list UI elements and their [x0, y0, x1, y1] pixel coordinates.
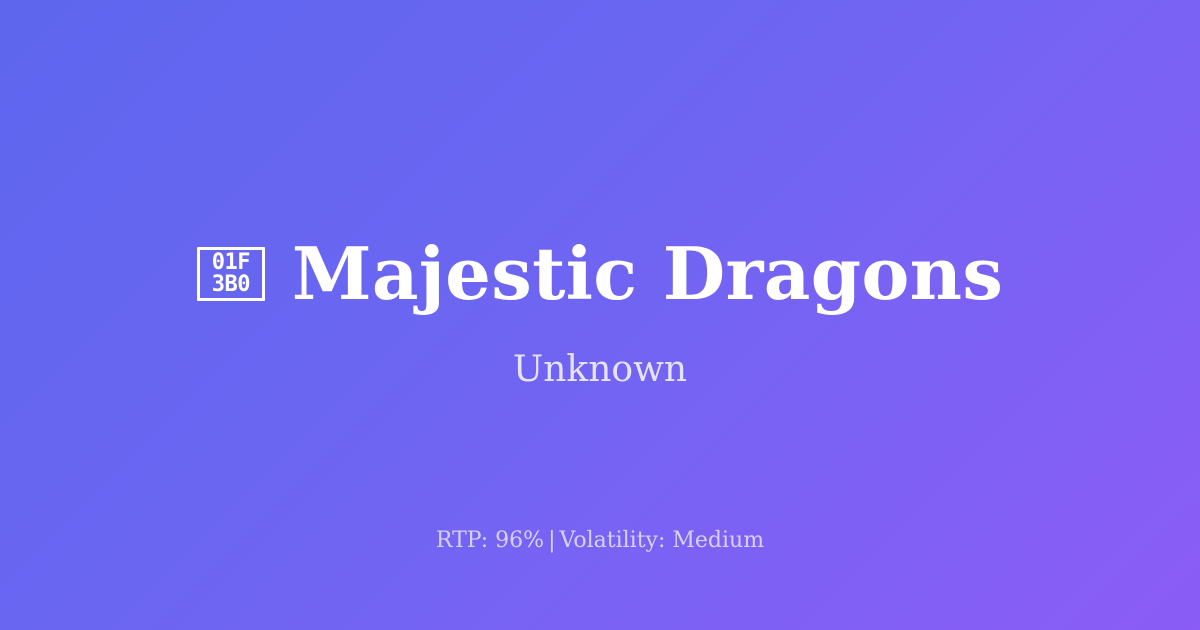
- tofu-codepoint-line-2: 3B0: [212, 274, 250, 296]
- game-meta-line: RTP: 96%|Volatility: Medium: [0, 528, 1200, 554]
- volatility-value: Volatility: Medium: [560, 528, 765, 553]
- page-title: 01F 3B0 Majestic Dragons: [157, 238, 1043, 310]
- game-provider-subtitle: Unknown: [473, 348, 727, 391]
- rtp-value: RTP: 96%: [436, 528, 544, 553]
- slot-machine-icon: 01F 3B0: [197, 247, 265, 301]
- game-og-card: 01F 3B0 Majestic Dragons Unknown RTP: 96…: [0, 0, 1200, 630]
- meta-separator: |: [544, 528, 559, 553]
- tofu-codepoint-line-1: 01F: [212, 252, 250, 274]
- game-title-text: Majestic Dragons: [292, 238, 1003, 310]
